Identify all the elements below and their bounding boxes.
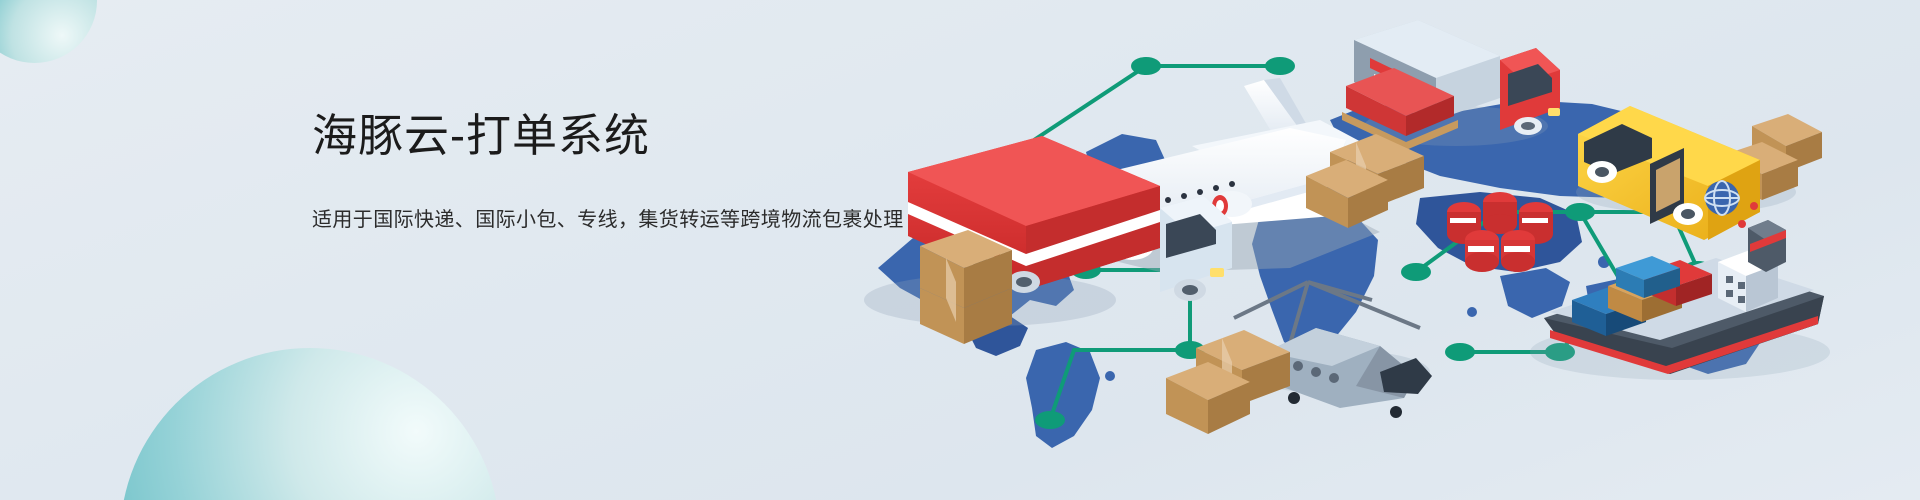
landmass-island-4 — [1467, 307, 1477, 317]
yellow-delivery-van — [1576, 106, 1822, 240]
van-taillight — [1750, 202, 1758, 210]
grey-truck-headlight — [1548, 108, 1560, 116]
network-node — [1131, 57, 1161, 75]
landmass-south-america — [1026, 342, 1100, 448]
cardboard-boxes — [920, 230, 1012, 344]
global-logistics-illustration — [860, 0, 1920, 500]
page-title: 海豚云-打单系统 — [312, 108, 952, 164]
network-node — [1401, 263, 1431, 281]
van-taillight — [1738, 220, 1746, 228]
circle-top-left-decoration — [0, 0, 97, 63]
network-node — [1265, 57, 1295, 75]
network-node — [1565, 203, 1595, 221]
hero-banner: 海豚云-打单系统 适用于国际快递、国际小包、专线，集货转运等跨境物流包裹处理 — [0, 0, 1920, 500]
network-node — [1445, 343, 1475, 361]
circle-bottom-left-decoration — [120, 348, 500, 500]
box-stack-left — [920, 230, 1012, 344]
helicopter-wheel — [1288, 392, 1300, 404]
network-node — [1035, 411, 1065, 429]
helicopter-wheel — [1390, 406, 1402, 418]
banner-text-block: 海豚云-打单系统 适用于国际快递、国际小包、专线，集货转运等跨境物流包裹处理 — [312, 108, 952, 234]
landmass-island-5 — [1105, 371, 1115, 381]
page-subtitle: 适用于国际快递、国际小包、专线，集货转运等跨境物流包裹处理 — [312, 206, 952, 234]
truck-headlight — [1210, 268, 1224, 277]
